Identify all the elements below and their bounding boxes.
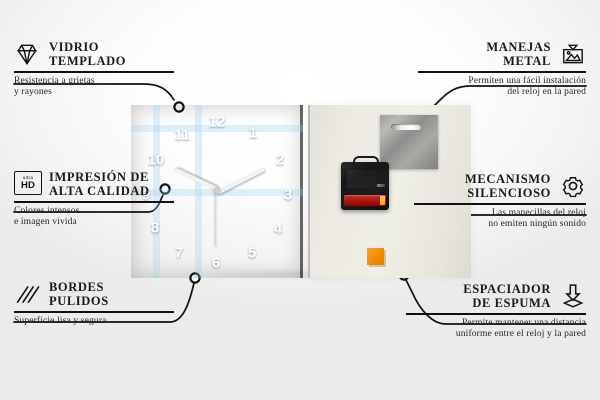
movement-body-detail — [347, 170, 377, 188]
foam-spacer — [367, 248, 384, 265]
callout-title-line2: SILENCIOSO — [465, 186, 551, 200]
callout-title-line1: IMPRESIÓN DE — [49, 170, 150, 184]
callout-description-line2: del reloj en la pared — [418, 87, 586, 99]
callout-description-line1: Permiten una fácil instalación — [418, 76, 586, 88]
callout-header: MANEJAS METAL — [418, 40, 586, 68]
callout-description-line1: Colores intensos — [14, 206, 174, 218]
callout-title: BORDES PULIDOS — [49, 280, 109, 308]
callout-rule — [14, 71, 174, 73]
callout-header: BORDES PULIDOS — [14, 280, 174, 308]
callout-description-line2: uniforme entre el reloj y la pared — [406, 329, 586, 341]
callout-title: ESPACIADOR DE ESPUMA — [463, 282, 551, 310]
callout-vidrio-templado: VIDRIO TEMPLADO Resistencia a grietas y … — [14, 40, 174, 99]
callout-description: Colores intensos e imagen vívida — [14, 206, 174, 229]
callout-description: Las manecillas del reloj no emiten ningú… — [414, 208, 586, 231]
callout-description-line1: Las manecillas del reloj — [414, 208, 586, 220]
callout-rule — [406, 313, 586, 315]
callout-description-line2: y rayones — [14, 87, 174, 99]
callout-header: ultra HD IMPRESIÓN DE ALTA CALIDAD — [14, 170, 174, 198]
clock-movement — [341, 162, 389, 210]
battery-terminal — [380, 196, 385, 205]
callout-title-line2: ALTA CALIDAD — [49, 184, 150, 198]
callout-title-line1: BORDES — [49, 280, 109, 294]
hanger-slot — [391, 124, 421, 130]
callout-title-line2: PULIDOS — [49, 294, 109, 308]
callout-rule — [14, 311, 174, 313]
callout-header: ESPACIADOR DE ESPUMA — [406, 282, 586, 310]
hands-hub — [214, 188, 220, 194]
callout-description-line1: Superficie lisa y segura — [14, 316, 174, 328]
battery — [344, 195, 386, 206]
callout-title: MECANISMO SILENCIOSO — [465, 172, 551, 200]
callout-description-line1: Resistencia a grietas — [14, 76, 174, 88]
callout-header: VIDRIO TEMPLADO — [14, 40, 174, 68]
callout-rule — [418, 71, 586, 73]
callout-title-line1: MANEJAS — [486, 40, 551, 54]
callout-manejas-metal: MANEJAS METAL Permiten una fácil instala… — [418, 40, 586, 99]
arrow-down-layer-icon — [560, 283, 586, 309]
callout-title: VIDRIO TEMPLADO — [49, 40, 126, 68]
ultra-hd-large-text: HD — [21, 181, 35, 191]
callout-rule — [14, 201, 174, 203]
second-hand — [216, 191, 217, 247]
callout-bordes-pulidos: BORDES PULIDOS Superficie lisa y segura — [14, 280, 174, 327]
callout-espaciador-de-espuma: ESPACIADOR DE ESPUMA Permite mantener un… — [406, 282, 586, 341]
callout-description: Permite mantener una distancia uniforme … — [406, 318, 586, 341]
callout-title-line2: METAL — [486, 54, 551, 68]
callout-title-line2: TEMPLADO — [49, 54, 126, 68]
callout-title-line1: VIDRIO — [49, 40, 126, 54]
diagonal-lines-icon — [14, 281, 40, 307]
gear-icon — [560, 173, 586, 199]
callout-title: IMPRESIÓN DE ALTA CALIDAD — [49, 170, 150, 198]
callout-header: MECANISMO SILENCIOSO — [414, 172, 586, 200]
movement-hanger-loop — [353, 156, 379, 167]
callout-description: Permiten una fácil instalación del reloj… — [418, 76, 586, 99]
picture-frame-hanger-icon — [560, 41, 586, 67]
infographic-canvas: 12 1 2 3 4 5 6 7 8 9 10 11 — [0, 0, 600, 400]
hour-hand — [175, 168, 218, 191]
metal-hanger-plate — [380, 115, 438, 169]
callout-mecanismo-silencioso: MECANISMO SILENCIOSO Las manecillas del … — [414, 172, 586, 231]
ultra-hd-icon: ultra HD — [14, 171, 40, 197]
callout-title-line1: MECANISMO — [465, 172, 551, 186]
callout-description-line1: Permite mantener una distancia — [406, 318, 586, 330]
callout-title-line2: DE ESPUMA — [463, 296, 551, 310]
callout-description: Superficie lisa y segura — [14, 316, 174, 328]
callout-rule — [414, 203, 586, 205]
minute-hand — [217, 167, 265, 194]
callout-description-line2: no emiten ningún sonido — [414, 219, 586, 231]
callout-description: Resistencia a grietas y rayones — [14, 76, 174, 99]
callout-impresion-alta-calidad: ultra HD IMPRESIÓN DE ALTA CALIDAD Color… — [14, 170, 174, 229]
callout-title: MANEJAS METAL — [486, 40, 551, 68]
diamond-icon — [14, 41, 40, 67]
movement-contacts — [377, 184, 385, 187]
callout-description-line2: e imagen vívida — [14, 217, 174, 229]
callout-title-line1: ESPACIADOR — [463, 282, 551, 296]
